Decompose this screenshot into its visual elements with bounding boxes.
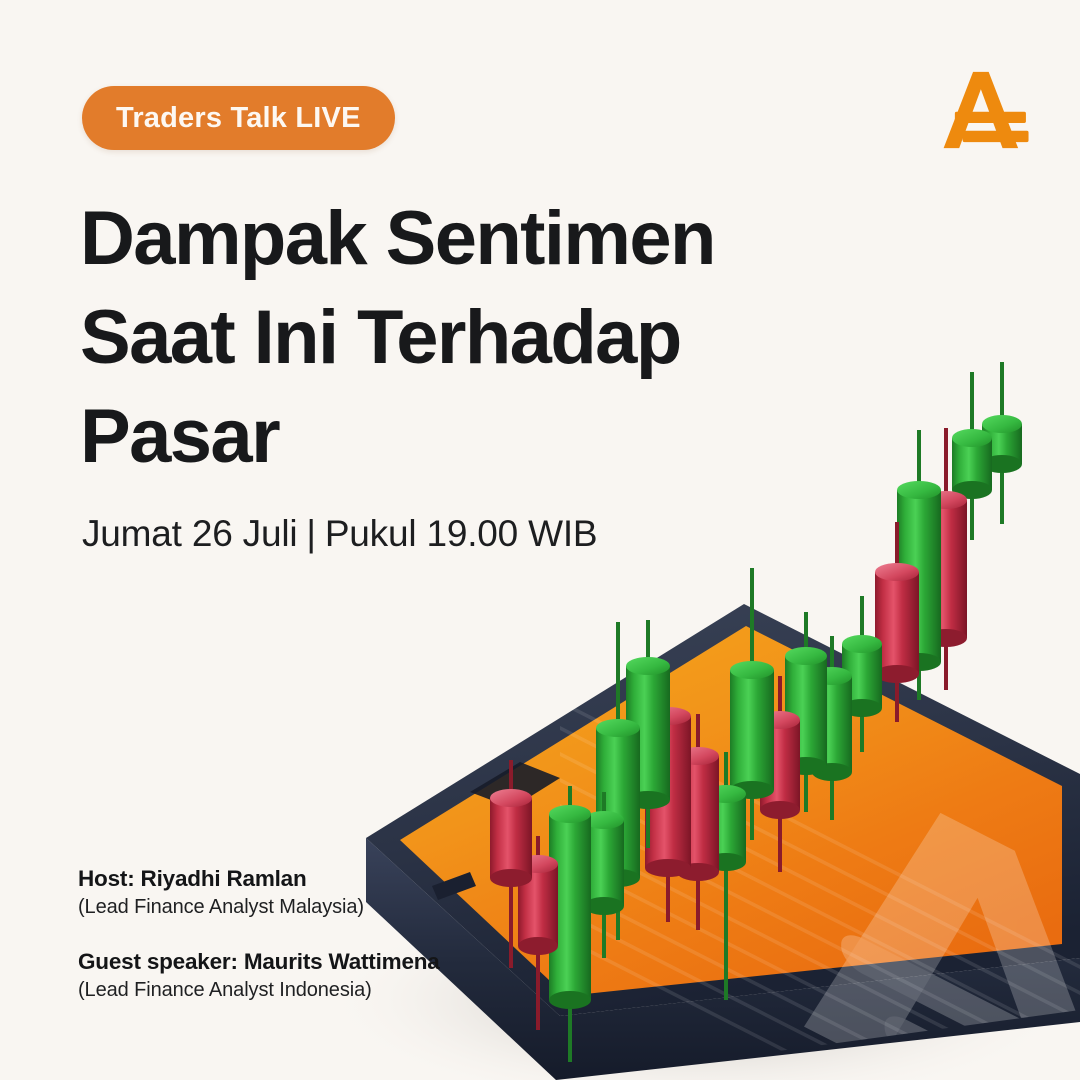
- candle-16-up: [897, 430, 941, 700]
- credit-host: Host: Riyadhi Ramlan (Lead Finance Analy…: [78, 866, 548, 919]
- schedule-line: Jumat 26 Juli|Pukul 19.00 WIB: [82, 513, 597, 555]
- candle-13-up: [812, 636, 852, 820]
- headline-line-1: Dampak Sentimen: [80, 190, 820, 289]
- screen-watermark-logo: [804, 743, 1080, 1080]
- screen-texture: [560, 700, 1080, 1080]
- candle-4-up: [584, 792, 624, 958]
- candle-7-down: [645, 668, 691, 922]
- page-title: Dampak Sentimen Saat Ini Terhadap Pasar: [80, 190, 820, 486]
- candle-8-down: [677, 714, 719, 930]
- headline-line-2: Saat Ini Terhadap: [80, 289, 820, 388]
- schedule-date: Jumat 26 Juli: [82, 513, 297, 554]
- candle-10-up: [730, 568, 774, 840]
- candle-18-up: [952, 372, 992, 540]
- live-badge-label: Traders Talk LIVE: [116, 102, 361, 135]
- candle-17-down: [925, 428, 967, 690]
- candle-12-up: [785, 612, 827, 812]
- candle-6-up: [626, 620, 670, 848]
- candle-3-up: [549, 786, 591, 1062]
- smartphone: [366, 604, 1080, 1080]
- candle-11-down: [760, 676, 800, 872]
- candle-14-up: [842, 596, 882, 752]
- schedule-time: Pukul 19.00 WIB: [325, 513, 598, 554]
- credit-guest-name: Guest speaker: Maurits Wattimena: [78, 949, 548, 975]
- candle-5-up: [596, 622, 640, 940]
- live-badge[interactable]: Traders Talk LIVE: [82, 86, 395, 150]
- candle-9-up: [706, 752, 746, 1000]
- headline-line-3: Pasar: [80, 388, 820, 487]
- promo-poster: Traders Talk LIVE Dampak Sentimen Saat I…: [0, 0, 1080, 1080]
- candle-19-up: [982, 362, 1022, 524]
- phone-notch: [470, 762, 560, 808]
- credit-guest: Guest speaker: Maurits Wattimena (Lead F…: [78, 949, 548, 1002]
- credits: Host: Riyadhi Ramlan (Lead Finance Analy…: [78, 866, 548, 1002]
- brand-a-logo: [928, 58, 1032, 162]
- credit-host-name: Host: Riyadhi Ramlan: [78, 866, 548, 892]
- candle-15-down: [875, 522, 919, 722]
- credit-guest-role: (Lead Finance Analyst Indonesia): [78, 979, 548, 1002]
- credit-host-role: (Lead Finance Analyst Malaysia): [78, 896, 548, 919]
- schedule-separator: |: [297, 513, 324, 555]
